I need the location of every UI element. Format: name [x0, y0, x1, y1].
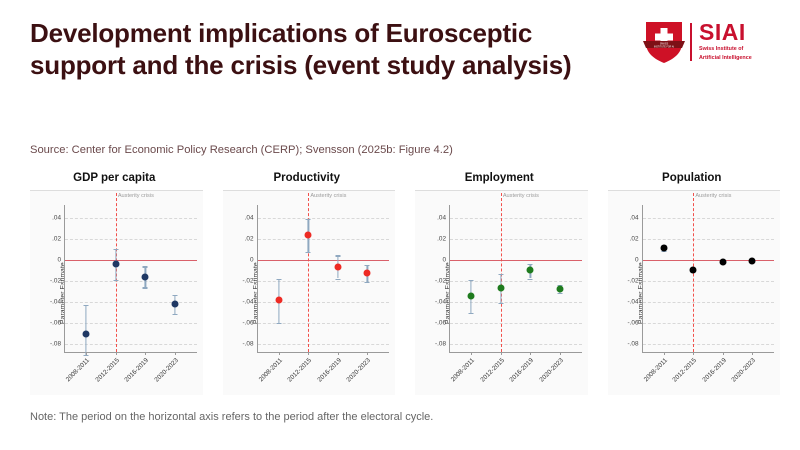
x-axis-tickmark	[308, 352, 309, 355]
data-point	[275, 296, 282, 303]
data-point	[171, 300, 178, 307]
panel-title: GDP per capita	[18, 172, 211, 184]
error-bar-cap-upper	[528, 264, 533, 265]
x-axis-tickmark	[338, 352, 339, 355]
error-bar-cap-lower	[143, 287, 148, 288]
y-axis-tick: .02	[245, 235, 254, 242]
gridline	[258, 218, 390, 219]
error-bar-cap-upper	[113, 249, 118, 250]
error-bar-cap-upper	[143, 266, 148, 267]
panel-title: Employment	[403, 172, 596, 184]
source-caption: Source: Center for Economic Policy Resea…	[30, 144, 453, 156]
x-axis-tickmark	[664, 352, 665, 355]
slide-header: Development implications of Eurosceptic …	[0, 0, 800, 135]
y-axis-tick: 0	[250, 256, 254, 263]
plot-canvas: .04.020-.02-.04-.06-.08Austerity crisis2…	[642, 205, 775, 353]
plot-canvas: .04.020-.02-.04-.06-.08Austerity crisis2…	[449, 205, 582, 353]
chart-panel-2: ProductivityParameter Estimate.04.020-.0…	[211, 170, 404, 395]
data-point	[497, 284, 504, 291]
error-bar-cap-upper	[335, 255, 340, 256]
austerity-crisis-label: Austerity crisis	[116, 193, 154, 199]
y-axis-tick: .02	[630, 235, 639, 242]
error-bar-cap-lower	[306, 252, 311, 253]
x-axis-tick: 2016-2019	[316, 357, 343, 384]
data-point	[468, 293, 475, 300]
logo-divider	[690, 23, 692, 61]
x-axis-tick: 2020-2023	[346, 357, 373, 384]
y-axis-tick: .04	[245, 214, 254, 221]
error-bar-cap-lower	[469, 313, 474, 314]
error-bar-cap-lower	[172, 314, 177, 315]
y-axis-tick: -.04	[50, 298, 61, 305]
x-axis-tickmark	[116, 352, 117, 355]
error-bar-cap-upper	[84, 305, 89, 306]
x-axis-tickmark	[530, 352, 531, 355]
plot-canvas: .04.020-.02-.04-.06-.08Austerity crisis2…	[257, 205, 390, 353]
data-point	[690, 267, 697, 274]
error-bar-cap-lower	[113, 280, 118, 281]
data-point	[142, 274, 149, 281]
austerity-crisis-label: Austerity crisis	[501, 193, 539, 199]
logo-wordmark: SIAI Swiss Institute of Artificial Intel…	[699, 22, 752, 62]
logo-subtitle-line2: Artificial Intelligence	[699, 55, 752, 62]
x-axis-tick: 2020-2023	[538, 357, 565, 384]
x-axis-tick: 2016-2019	[509, 357, 536, 384]
x-axis-tick: 2020-2023	[153, 357, 180, 384]
gridline	[65, 218, 197, 219]
data-point	[83, 331, 90, 338]
x-axis-tick: 2008-2011	[257, 357, 283, 383]
error-bar-cap-lower	[335, 279, 340, 280]
x-axis-tickmark	[145, 352, 146, 355]
data-point	[364, 270, 371, 277]
y-axis-tick: -.02	[435, 277, 446, 284]
data-point	[334, 263, 341, 270]
x-axis-tickmark	[501, 352, 502, 355]
zero-reference-line	[450, 260, 582, 261]
y-axis-tick: -.06	[627, 319, 638, 326]
data-point	[527, 267, 534, 274]
gridline	[643, 218, 775, 219]
plot-canvas: .04.020-.02-.04-.06-.08Austerity crisis2…	[64, 205, 197, 353]
x-axis-tick: 2008-2011	[642, 357, 668, 383]
slide-root: Development implications of Eurosceptic …	[0, 0, 800, 450]
error-bar-cap-upper	[172, 295, 177, 296]
austerity-crisis-line	[501, 193, 502, 352]
gridline	[643, 344, 775, 345]
zero-reference-line	[65, 260, 197, 261]
x-axis-tickmark	[367, 352, 368, 355]
y-axis-tick: .04	[437, 214, 446, 221]
error-bar-cap-upper	[365, 265, 370, 266]
logo-name: SIAI	[699, 22, 752, 44]
figure-note: Note: The period on the horizontal axis …	[30, 411, 433, 423]
zero-reference-line	[258, 260, 390, 261]
y-axis-tick: -.02	[242, 277, 253, 284]
gridline	[65, 281, 197, 282]
data-point	[112, 260, 119, 267]
chart-panel-3: EmploymentParameter Estimate.04.020-.02-…	[403, 170, 596, 395]
y-axis-tick: .02	[437, 235, 446, 242]
y-axis-tick: -.06	[50, 319, 61, 326]
y-axis-tick: -.04	[242, 298, 253, 305]
panel-plot-area: Parameter Estimate.04.020-.02-.04-.06-.0…	[30, 190, 203, 395]
x-axis-tickmark	[175, 352, 176, 355]
panel-plot-area: Parameter Estimate.04.020-.02-.04-.06-.0…	[608, 190, 781, 395]
y-axis-tick: 0	[57, 256, 61, 263]
gridline	[450, 344, 582, 345]
data-point	[719, 258, 726, 265]
page-title: Development implications of Eurosceptic …	[30, 18, 630, 81]
chart-panel-group: GDP per capitaParameter Estimate.04.020-…	[18, 170, 788, 395]
x-axis-tick: 2016-2019	[124, 357, 151, 384]
gridline	[450, 239, 582, 240]
gridline	[450, 323, 582, 324]
y-axis-tick: 0	[442, 256, 446, 263]
error-bar-cap-upper	[469, 280, 474, 281]
chart-panel-1: GDP per capitaParameter Estimate.04.020-…	[18, 170, 211, 395]
error-bar-cap-upper	[498, 274, 503, 275]
x-axis-tickmark	[279, 352, 280, 355]
svg-text:SWISS: SWISS	[660, 42, 669, 46]
y-axis-tick: .02	[52, 235, 61, 242]
error-bar-cap-lower	[528, 279, 533, 280]
error-bar-cap-lower	[276, 323, 281, 324]
panel-plot-area: Parameter Estimate.04.020-.02-.04-.06-.0…	[415, 190, 588, 395]
gridline	[258, 239, 390, 240]
austerity-crisis-line	[308, 193, 309, 352]
gridline	[65, 239, 197, 240]
austerity-crisis-label: Austerity crisis	[308, 193, 346, 199]
y-axis-tick: -.02	[627, 277, 638, 284]
x-axis-tickmark	[752, 352, 753, 355]
error-bar-cap-lower	[498, 303, 503, 304]
x-axis-tick: 2012-2015	[94, 357, 121, 384]
x-axis-tick: 2020-2023	[731, 357, 758, 384]
gridline	[643, 281, 775, 282]
y-axis-tick: .04	[52, 214, 61, 221]
gridline	[643, 239, 775, 240]
x-axis-tick: 2012-2015	[287, 357, 314, 384]
x-axis-tickmark	[693, 352, 694, 355]
x-axis-tickmark	[471, 352, 472, 355]
logo-subtitle-line1: Swiss Institute of	[699, 46, 752, 53]
panel-title: Population	[596, 172, 789, 184]
error-bar-cap-upper	[276, 279, 281, 280]
y-axis-tick: -.08	[435, 340, 446, 347]
error-bar-cap-lower	[557, 293, 562, 294]
y-axis-tick: -.08	[50, 340, 61, 347]
y-axis-tick: -.08	[627, 340, 638, 347]
x-axis-tickmark	[560, 352, 561, 355]
y-axis-tick: -.08	[242, 340, 253, 347]
x-axis-tick: 2008-2011	[65, 357, 91, 383]
data-point	[556, 286, 563, 293]
panel-title: Productivity	[211, 172, 404, 184]
austerity-crisis-label: Austerity crisis	[693, 193, 731, 199]
error-bar-cap-lower	[365, 282, 370, 283]
gridline	[450, 218, 582, 219]
error-bar-cap-upper	[306, 219, 311, 220]
panel-plot-area: Parameter Estimate.04.020-.02-.04-.06-.0…	[223, 190, 396, 395]
chart-panel-4: PopulationParameter Estimate.04.020-.02-…	[596, 170, 789, 395]
svg-text:INSTITUTE FOR AI: INSTITUTE FOR AI	[654, 45, 674, 48]
gridline	[643, 323, 775, 324]
y-axis-tick: -.04	[627, 298, 638, 305]
y-axis-tick: -.06	[242, 319, 253, 326]
y-axis-tick: .04	[630, 214, 639, 221]
data-point	[305, 232, 312, 239]
x-axis-tick: 2012-2015	[672, 357, 699, 384]
swiss-shield-icon: SWISS INSTITUTE FOR AI	[642, 19, 686, 65]
x-axis-tick: 2008-2011	[450, 357, 476, 383]
y-axis-tick: -.02	[50, 277, 61, 284]
x-axis-tickmark	[723, 352, 724, 355]
x-axis-tick: 2016-2019	[701, 357, 728, 384]
x-axis-tick: 2012-2015	[479, 357, 506, 384]
siai-logo: SWISS INSTITUTE FOR AI SIAI Swiss Instit…	[642, 16, 782, 68]
y-axis-tick: -.04	[435, 298, 446, 305]
y-axis-tick: -.06	[435, 319, 446, 326]
data-point	[660, 245, 667, 252]
data-point	[749, 257, 756, 264]
gridline	[258, 344, 390, 345]
y-axis-tick: 0	[635, 256, 639, 263]
x-axis-tickmark	[86, 352, 87, 355]
gridline	[643, 302, 775, 303]
